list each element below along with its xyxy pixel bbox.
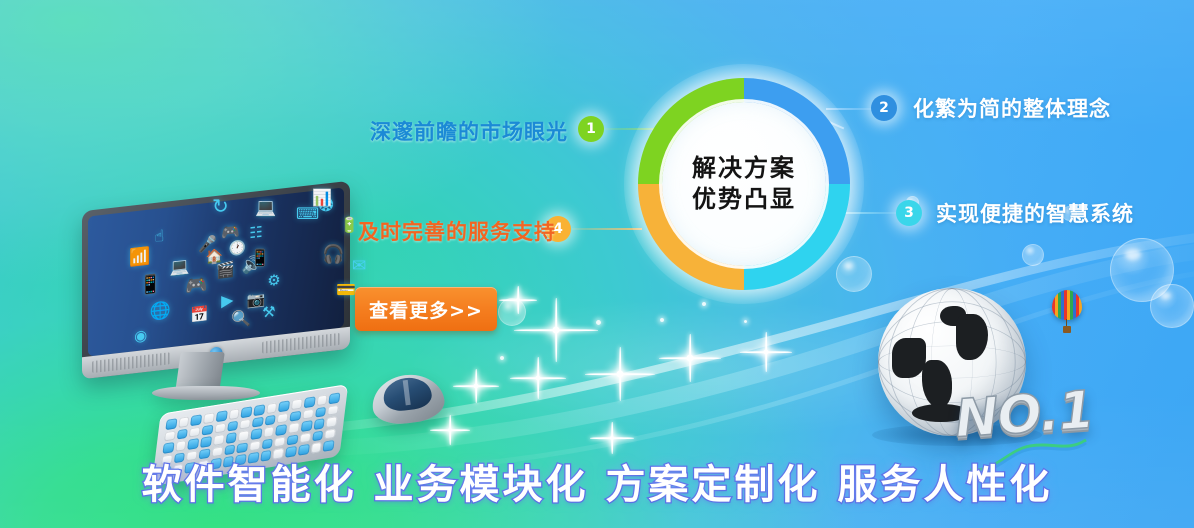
headline-text: 软件智能化 业务模块化 方案定制化 服务人性化 (0, 452, 1194, 510)
antenna-icon: ☝ (155, 227, 165, 244)
balloon-basket (1063, 326, 1071, 333)
feature-badge-3[interactable]: 3 (896, 200, 922, 226)
home-icon: 🏠 (206, 249, 223, 265)
donut-title-line2: 优势凸显 (692, 184, 796, 215)
view-more-button[interactable]: 查看更多>> (355, 287, 497, 331)
microphone-icon: 🎤 (198, 236, 217, 253)
play-icon: ▶ (221, 292, 233, 309)
calendar-icon: 📅 (190, 306, 209, 323)
monitor-vent-left (92, 352, 170, 373)
monitor-vent-right (262, 333, 340, 354)
promo-banner: 📶 ☝ 📱 💻 🎤 🎮 ☷ 🎮 🎬 🔊 🌐 📅 ▶ 📷 ⚙ 🔍 ⚒ ◉ 🏠 (0, 0, 1194, 528)
joystick-icon: 🎮 (221, 224, 240, 241)
monitor-frame: 📶 ☝ 📱 💻 🎤 🎮 ☷ 🎮 🎬 🔊 🌐 📅 ▶ 📷 ⚙ 🔍 ⚒ ◉ 🏠 (82, 181, 350, 380)
camera-icon: 📷 (247, 292, 266, 309)
no1-badge: NO.1 (953, 380, 1095, 450)
desktop-monitor: 📶 ☝ 📱 💻 🎤 🎮 ☷ 🎮 🎬 🔊 🌐 📅 ▶ 📷 ⚙ 🔍 ⚒ ◉ 🏠 (82, 196, 372, 396)
balloon-envelope (1052, 290, 1082, 320)
continent-north-america (892, 338, 926, 378)
globe-icon: 🌐 (149, 302, 170, 321)
tools-icon: ⚒ (262, 304, 275, 321)
donut-center: 解决方案 优势凸显 (662, 102, 826, 266)
film-icon: 🎬 (216, 261, 235, 278)
gear-icon: ⚙ (267, 273, 280, 290)
gamepad-icon: 🎮 (185, 276, 207, 297)
mobile-icon: 📱 (139, 275, 161, 296)
feature-badge-1[interactable]: 1 (578, 116, 604, 142)
network-icon: ☷ (249, 225, 262, 242)
feature-label-3: 实现便捷的智慧系统 (936, 198, 1134, 228)
volume-icon: 🔊 (242, 256, 262, 274)
feature-label-4: 及时完善的服务支持 (358, 216, 556, 246)
laptop-icon: 💻 (170, 258, 190, 276)
hot-air-balloon (1052, 290, 1082, 334)
feature-label-1: 深邃前瞻的市场眼光 (370, 116, 568, 146)
feature-label-2: 化繁为简的整体理念 (913, 93, 1111, 123)
clock-icon: 🕐 (229, 241, 246, 257)
reel-icon: ◉ (134, 327, 147, 343)
feature-badge-2[interactable]: 2 (871, 95, 897, 121)
donut-title-line1: 解决方案 (692, 153, 796, 184)
search-icon: 🔍 (231, 310, 251, 328)
donut-chart: 解决方案 优势凸显 (638, 78, 850, 290)
wifi-icon: 📶 (129, 249, 150, 268)
monitor-foot (152, 386, 260, 400)
